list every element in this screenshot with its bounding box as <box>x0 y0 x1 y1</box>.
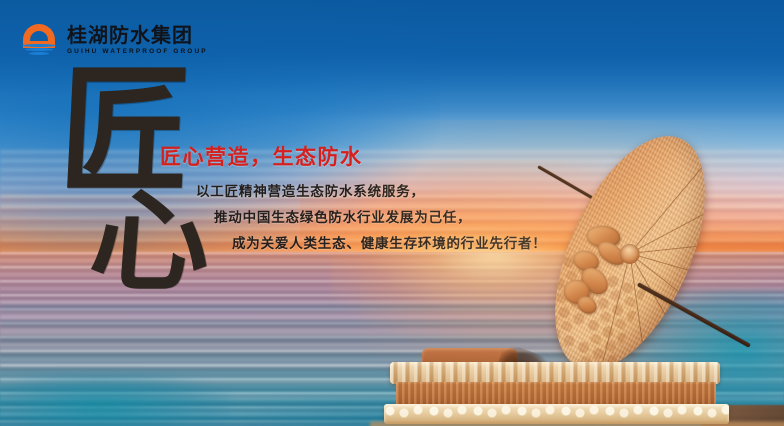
hero-banner: 桂湖防水集团 GUIHU WATERPROOF GROUP 匠 心 匠心营造，生… <box>0 0 784 426</box>
wave-line-3 <box>29 52 49 55</box>
company-logo[interactable]: 桂湖防水集团 GUIHU WATERPROOF GROUP <box>20 22 208 58</box>
base-bottom-texture <box>384 404 729 424</box>
logo-name-cn: 桂湖防水集团 <box>67 25 208 45</box>
arch-shape <box>23 24 55 41</box>
top-blue-band <box>0 0 784 120</box>
wave-line-1 <box>22 44 56 47</box>
base-ground-shadow <box>370 422 784 426</box>
teal-water-left <box>0 372 230 426</box>
sundial-disc <box>524 114 735 391</box>
base-step-top <box>390 362 720 384</box>
stone-sundial <box>400 150 784 426</box>
arch-over-waves-icon <box>20 22 58 58</box>
slogan-line-1: 以工匠精神营造生态防水系统服务， <box>196 180 425 200</box>
wave-line-2 <box>25 48 53 51</box>
logo-wordmark: 桂湖防水集团 GUIHU WATERPROOF GROUP <box>67 25 208 56</box>
base-top-texture <box>390 362 720 384</box>
logo-name-en: GUIHU WATERPROOF GROUP <box>67 49 208 56</box>
base-step-bottom <box>384 404 729 424</box>
slogan-headline: 匠心营造，生态防水 <box>160 141 363 171</box>
